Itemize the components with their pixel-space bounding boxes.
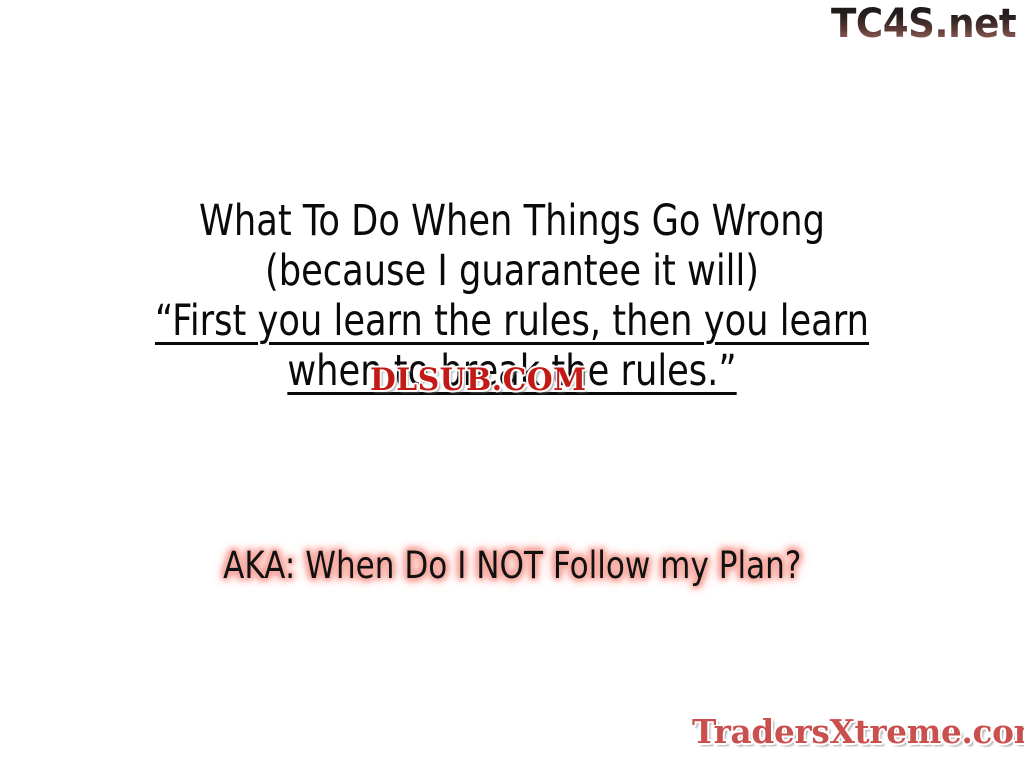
body-line-1: What To Do When Things Go Wrong: [92, 196, 932, 246]
body-line-2: (because I guarantee it will): [92, 246, 932, 296]
slide-subtitle: AKA: When Do I NOT Follow my Plan?: [0, 544, 1024, 588]
presentation-slide: TC4S.net What To Do When Things Go Wrong…: [0, 0, 1024, 768]
footer-logo-tradersxtreme: TradersXtreme.com: [692, 714, 1024, 750]
slide-subtitle-text: AKA: When Do I NOT Follow my Plan?: [223, 544, 801, 588]
dlsub-watermark: DLSUB.COM: [370, 364, 587, 397]
body-line-3: “First you learn the rules, then you lea…: [92, 296, 932, 346]
brand-logo-tc4s: TC4S.net: [831, 2, 1016, 46]
